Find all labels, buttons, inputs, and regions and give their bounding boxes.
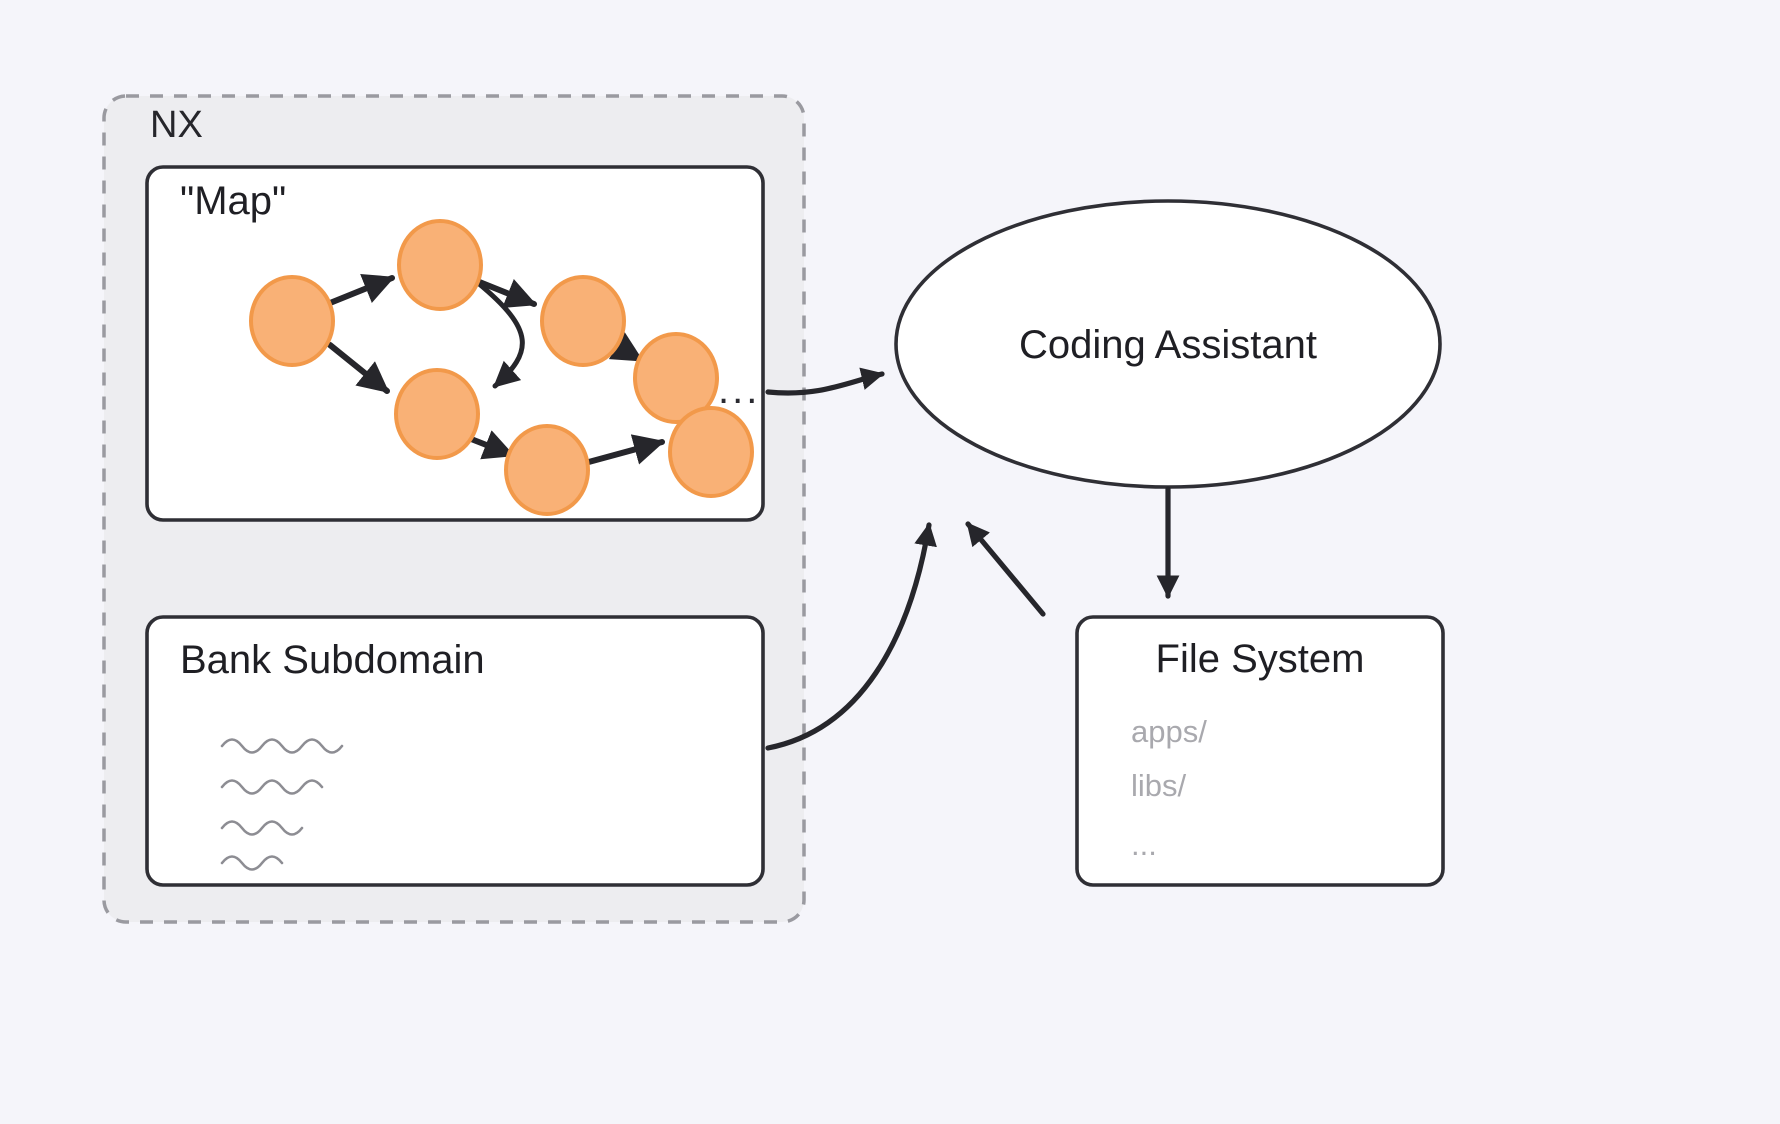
map-graph-ellipsis: ... — [718, 368, 760, 412]
file-system-entry-more: ... — [1131, 827, 1157, 862]
file-system-entry-apps: apps/ — [1131, 714, 1207, 749]
graph-node-n5[interactable] — [396, 370, 478, 458]
graph-node-n3[interactable] — [542, 277, 624, 365]
graph-node-n7[interactable] — [670, 408, 752, 496]
map-card[interactable]: "Map" ... — [147, 167, 763, 520]
bank-subdomain-title: Bank Subdomain — [180, 638, 485, 682]
file-system-card[interactable]: File System apps/ libs/ ... — [1077, 617, 1443, 885]
graph-node-n2[interactable] — [399, 221, 481, 309]
coding-assistant-node[interactable]: Coding Assistant — [896, 201, 1440, 487]
file-system-title: File System — [1156, 637, 1365, 681]
bank-subdomain-card[interactable]: Bank Subdomain — [147, 617, 763, 885]
file-system-entry-libs: libs/ — [1131, 768, 1187, 803]
nx-group-label: NX — [150, 104, 203, 146]
coding-assistant-label: Coding Assistant — [1019, 323, 1317, 367]
diagram-canvas: NX "Map" — [0, 0, 1780, 1124]
graph-node-n6[interactable] — [506, 426, 588, 514]
graph-node-n1[interactable] — [251, 277, 333, 365]
diagram-svg: NX "Map" — [0, 0, 1780, 1124]
map-card-title: "Map" — [180, 179, 286, 223]
connector-external-to-assistant — [968, 524, 1043, 614]
